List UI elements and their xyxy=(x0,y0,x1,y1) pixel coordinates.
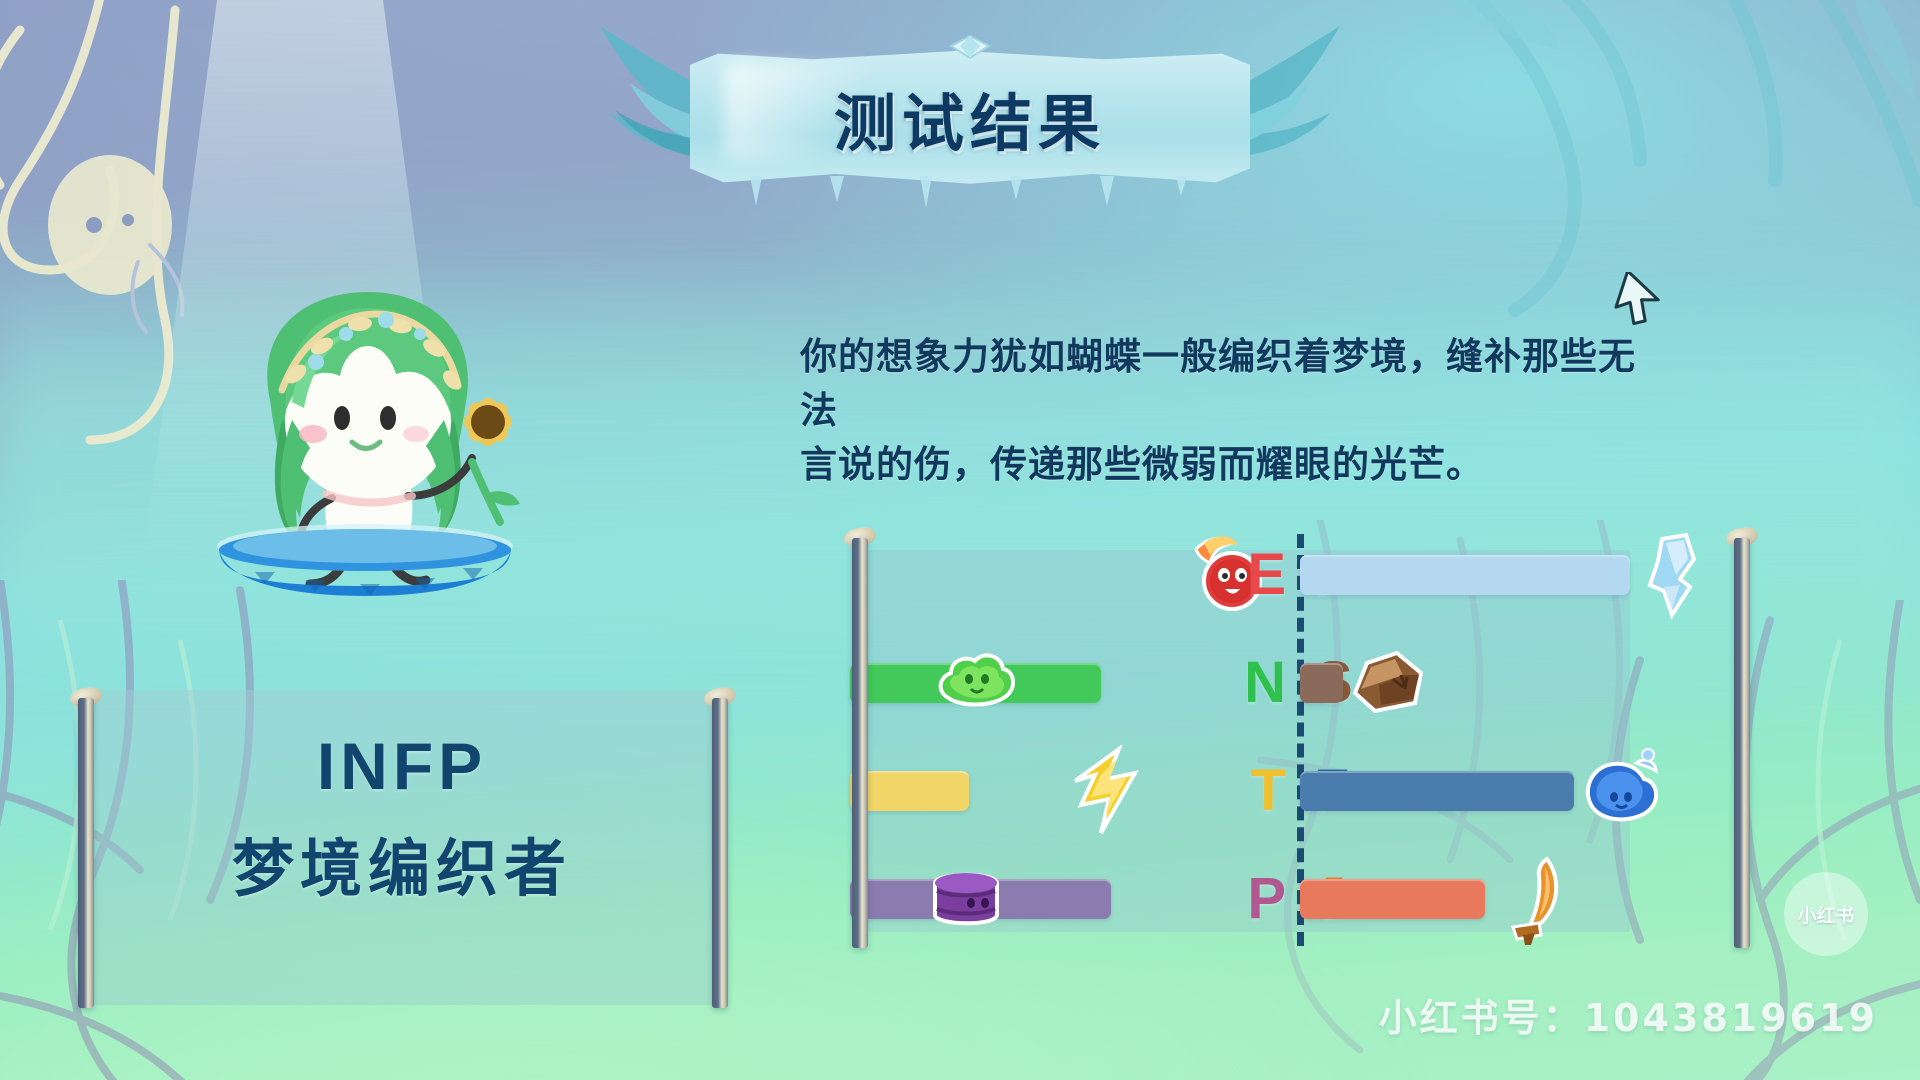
result-description: 你的想象力犹如蝴蝶一般编织着梦境，缝补那些无法 言说的伤，传递那些微弱而耀眼的光… xyxy=(800,330,1660,492)
description-line-1: 你的想象力犹如蝴蝶一般编织着梦境，缝补那些无法 xyxy=(800,330,1660,438)
mbti-left-pj: P xyxy=(850,864,1300,934)
page-title: 测试结果 xyxy=(690,48,1250,188)
sunflower-icon xyxy=(461,395,520,522)
mbti-right-ei: I xyxy=(1300,540,1750,610)
mbti-row-ns: N S xyxy=(850,648,1750,718)
mbti-left-tf: T xyxy=(850,756,1300,826)
mbti-left-ei: E xyxy=(850,540,1300,610)
mbti-letter-p: P xyxy=(1247,870,1286,928)
mbti-letter-e: E xyxy=(1247,546,1286,604)
mbti-bar-s xyxy=(1300,663,1343,703)
title-banner: 测试结果 xyxy=(690,48,1250,188)
personality-type-plaque: INFP 梦境编织者 xyxy=(78,690,726,1005)
mbti-dimension-chart: E I xyxy=(850,540,1750,940)
mbti-letter-t: T xyxy=(1251,762,1286,820)
description-line-2: 言说的伤，传递那些微弱而耀眼的光芒。 xyxy=(800,438,1660,492)
mbti-right-tf: F xyxy=(1300,756,1750,826)
xiaohongshu-account-id: 小红书号：1043819619 xyxy=(1379,987,1878,1042)
mbti-row-pj: P J xyxy=(850,864,1750,934)
barrel-icon xyxy=(919,853,1011,945)
rock-icon xyxy=(1341,637,1433,729)
xiaohongshu-watermark-badge: 小红书 xyxy=(1784,872,1868,956)
personality-type-code: INFP xyxy=(78,728,726,804)
plaque-post-left xyxy=(78,688,94,1008)
result-screen: 测试结果 xyxy=(0,0,1920,1080)
water-icon xyxy=(1572,745,1664,837)
mbti-bar-j xyxy=(1300,879,1485,919)
grass-icon xyxy=(929,637,1021,729)
mbti-left-ns: N xyxy=(850,648,1300,718)
pedestal-platform xyxy=(195,520,535,610)
mbti-letter-n: N xyxy=(1244,654,1286,712)
mouse-pointer-icon xyxy=(1613,272,1665,330)
mbti-post-left xyxy=(852,528,868,948)
plaque-post-right xyxy=(712,688,728,1008)
mbti-post-right xyxy=(1734,528,1750,948)
mbti-right-pj: J xyxy=(1300,864,1750,934)
ice-icon xyxy=(1628,529,1720,621)
personality-type-name: 梦境编织者 xyxy=(78,818,726,908)
lightning-icon xyxy=(1061,745,1153,837)
mbti-bar-i xyxy=(1300,555,1630,595)
mbti-row-tf: T F xyxy=(850,756,1750,826)
mbti-bar-f xyxy=(1300,771,1574,811)
blade-icon xyxy=(1483,853,1575,945)
mbti-row-ei: E I xyxy=(850,540,1750,610)
mbti-right-ns: S xyxy=(1300,648,1750,718)
